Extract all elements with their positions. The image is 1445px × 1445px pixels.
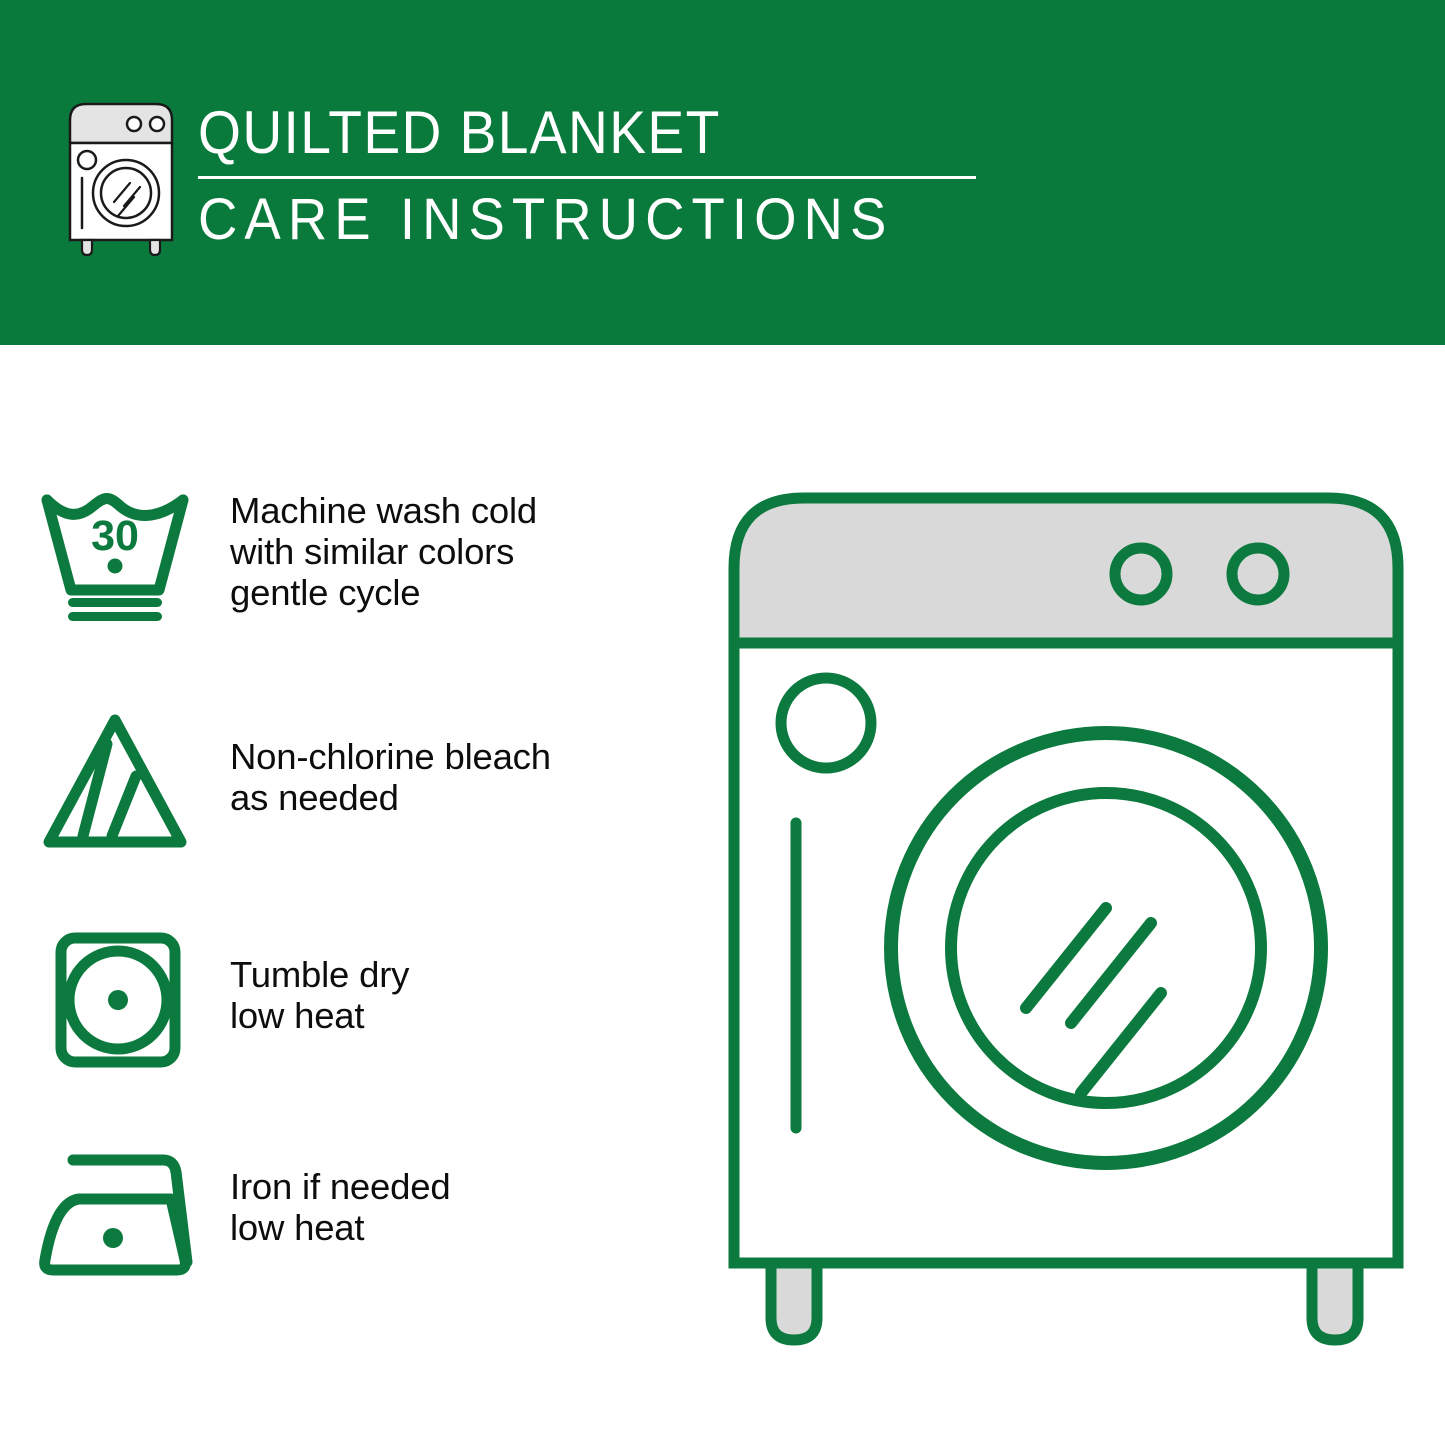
wash-temperature-value: 30 [91, 512, 139, 560]
care-row-iron: Iron if needed low heat [0, 1134, 700, 1292]
leg-left [771, 1263, 817, 1340]
care-row-machine-wash: 30 Machine wash cold with similar colors… [0, 470, 700, 628]
indicator-light [781, 678, 871, 768]
tumble-dry-low-heat-icon [0, 918, 230, 1076]
care-instruction-text: Tumble dry low heat [230, 954, 700, 1036]
care-row-bleach: Non-chlorine bleach as needed [0, 698, 700, 856]
leg-right [1312, 1263, 1358, 1340]
care-instructions-page: QUILTED BLANKET CARE INSTRUCTIONS 30 [0, 0, 1445, 1445]
care-label-cell: Non-chlorine bleach as needed [230, 698, 700, 818]
care-label-cell: Iron if needed low heat [230, 1134, 700, 1248]
care-label-cell: Tumble dry low heat [230, 918, 700, 1036]
washing-machine-icon [62, 98, 180, 258]
header-content: QUILTED BLANKET CARE INSTRUCTIONS [62, 96, 1002, 266]
page-title: QUILTED BLANKET [198, 102, 938, 164]
care-instruction-text: Non-chlorine bleach as needed [230, 736, 700, 818]
care-row-tumble-dry: Tumble dry low heat [0, 918, 700, 1076]
care-label-cell: Machine wash cold with similar colors ge… [230, 470, 700, 613]
front-load-washing-machine-illustration [716, 478, 1416, 1368]
care-instruction-text: Iron if needed low heat [230, 1166, 700, 1248]
triangle-non-chlorine-bleach-icon [0, 698, 230, 856]
knob-left [1115, 548, 1167, 600]
knob-right [1232, 548, 1284, 600]
title-divider [198, 176, 976, 179]
control-panel [734, 498, 1398, 643]
page-subtitle: CARE INSTRUCTIONS [198, 190, 954, 250]
care-instruction-text: Machine wash cold with similar colors ge… [230, 490, 700, 613]
header-band: QUILTED BLANKET CARE INSTRUCTIONS [0, 0, 1445, 345]
iron-low-heat-icon [0, 1134, 230, 1292]
wash-tub-30-gentle-icon: 30 [0, 470, 230, 628]
header-titles: QUILTED BLANKET CARE INSTRUCTIONS [198, 96, 1002, 250]
